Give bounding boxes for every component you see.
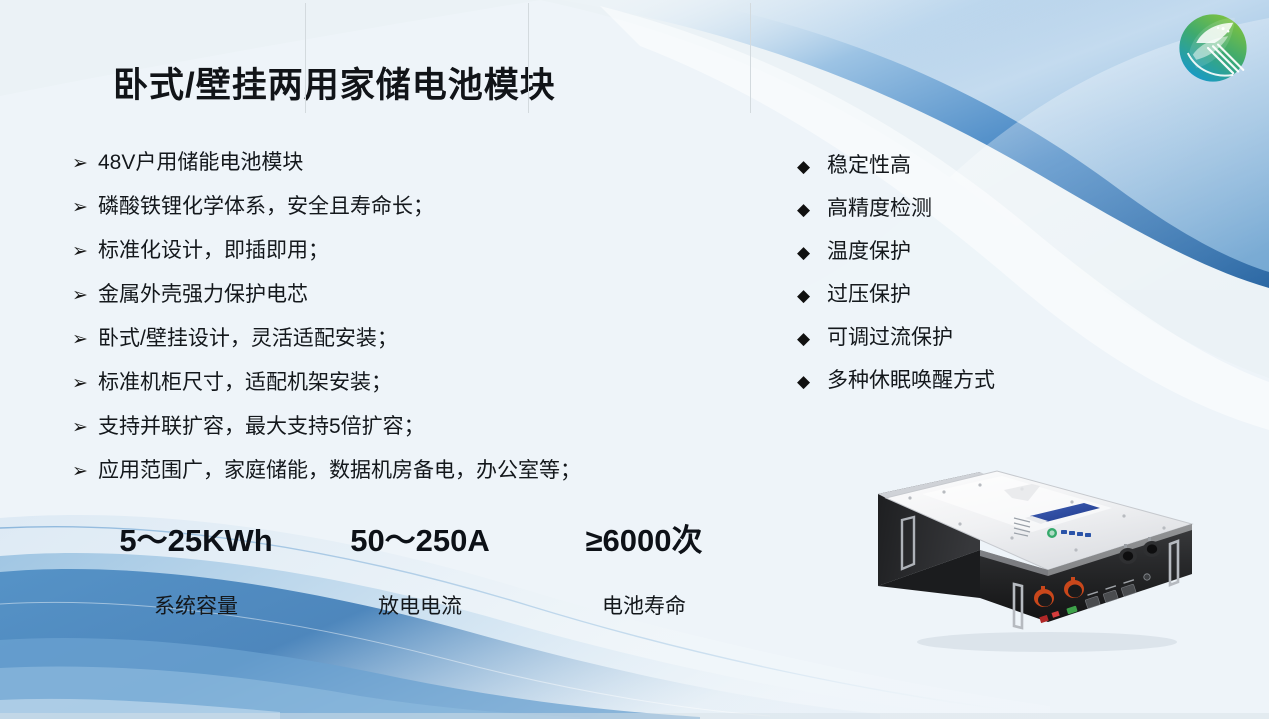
diamond-bullet-icon: ◆ xyxy=(797,330,827,347)
left-bullet-list: ➢ 48V户用储能电池模块 ➢ 磷酸铁锂化学体系，安全且寿命长； ➢ 标准化设计… xyxy=(72,152,712,504)
list-item: ➢ 应用范围广，家庭储能，数据机房备电，办公室等； xyxy=(72,460,712,504)
list-item: ➢ 48V户用储能电池模块 xyxy=(72,152,712,196)
battery-module-photo xyxy=(862,446,1210,658)
stat-capacity: 5～25KWh 系统容量 xyxy=(84,515,308,628)
right-feature-list: ◆ 稳定性高 ◆ 高精度检测 ◆ 温度保护 ◆ 过压保护 ◆ 可调过流保护 ◆ … xyxy=(797,155,1127,413)
list-item: ◆ 温度保护 xyxy=(797,241,1127,284)
arrow-bullet-icon: ➢ xyxy=(72,374,98,393)
bullet-label: 磷酸铁锂化学体系，安全且寿命长； xyxy=(98,196,434,217)
stat-value: 50～250A xyxy=(350,515,490,560)
bullet-label: 48V户用储能电池模块 xyxy=(98,152,303,173)
stat-discharge-current: 50～250A 放电电流 xyxy=(308,515,532,628)
feature-label: 可调过流保护 xyxy=(827,327,953,348)
stat-value: ≥6000次 xyxy=(586,515,703,560)
list-item: ➢ 卧式/壁挂设计，灵活适配安装； xyxy=(72,328,712,372)
list-item: ➢ 支持并联扩容，最大支持5倍扩容； xyxy=(72,416,712,460)
list-item: ➢ 金属外壳强力保护电芯 xyxy=(72,284,712,328)
bullet-label: 应用范围广，家庭储能，数据机房备电，办公室等； xyxy=(98,460,581,481)
arrow-bullet-icon: ➢ xyxy=(72,154,98,173)
diamond-bullet-icon: ◆ xyxy=(797,244,827,261)
arrow-bullet-icon: ➢ xyxy=(72,418,98,437)
list-item: ➢ 标准机柜尺寸，适配机架安装； xyxy=(72,372,712,416)
diamond-bullet-icon: ◆ xyxy=(797,287,827,304)
arrow-bullet-icon: ➢ xyxy=(72,242,98,261)
stat-label: 放电电流 xyxy=(378,590,462,620)
bullet-label: 支持并联扩容，最大支持5倍扩容； xyxy=(98,416,425,437)
bullet-label: 金属外壳强力保护电芯 xyxy=(98,284,308,305)
feature-label: 过压保护 xyxy=(827,284,911,305)
bullet-label: 标准机柜尺寸，适配机架安装； xyxy=(98,372,392,393)
diamond-bullet-icon: ◆ xyxy=(797,158,827,175)
list-item: ◆ 过压保护 xyxy=(797,284,1127,327)
bullet-label: 标准化设计，即插即用； xyxy=(98,240,329,261)
feature-label: 高精度检测 xyxy=(827,198,932,219)
diamond-bullet-icon: ◆ xyxy=(797,373,827,390)
diamond-bullet-icon: ◆ xyxy=(797,201,827,218)
stat-label: 系统容量 xyxy=(154,590,238,620)
feature-label: 温度保护 xyxy=(827,241,911,262)
feature-label: 多种休眠唤醒方式 xyxy=(827,370,995,391)
list-item: ➢ 标准化设计，即插即用； xyxy=(72,240,712,284)
bullet-label: 卧式/壁挂设计，灵活适配安装； xyxy=(98,328,398,349)
spec-stats-strip: 5～25KWh 系统容量 50～250A 放电电流 ≥6000次 电池寿命 xyxy=(84,515,756,628)
feature-label: 稳定性高 xyxy=(827,155,911,176)
arrow-bullet-icon: ➢ xyxy=(72,198,98,217)
arrow-bullet-icon: ➢ xyxy=(72,286,98,305)
arrow-bullet-icon: ➢ xyxy=(72,330,98,349)
list-item: ◆ 多种休眠唤醒方式 xyxy=(797,370,1127,413)
list-item: ◆ 可调过流保护 xyxy=(797,327,1127,370)
slide-canvas: 卧式/壁挂两用家储电池模块 ➢ 48V户用储能电池模块 ➢ 磷酸铁锂化学体系，安… xyxy=(0,0,1269,719)
stat-divider xyxy=(750,3,751,113)
stat-label: 电池寿命 xyxy=(602,590,686,620)
list-item: ◆ 稳定性高 xyxy=(797,155,1127,198)
stat-divider xyxy=(528,3,529,113)
stat-value: 5～25KWh xyxy=(119,515,272,560)
slide-title: 卧式/壁挂两用家储电池模块 xyxy=(113,57,556,108)
company-logo-icon xyxy=(1171,6,1255,90)
stat-cycle-life: ≥6000次 电池寿命 xyxy=(532,515,756,628)
list-item: ◆ 高精度检测 xyxy=(797,198,1127,241)
list-item: ➢ 磷酸铁锂化学体系，安全且寿命长； xyxy=(72,196,712,240)
stat-divider xyxy=(305,3,306,113)
arrow-bullet-icon: ➢ xyxy=(72,462,98,481)
